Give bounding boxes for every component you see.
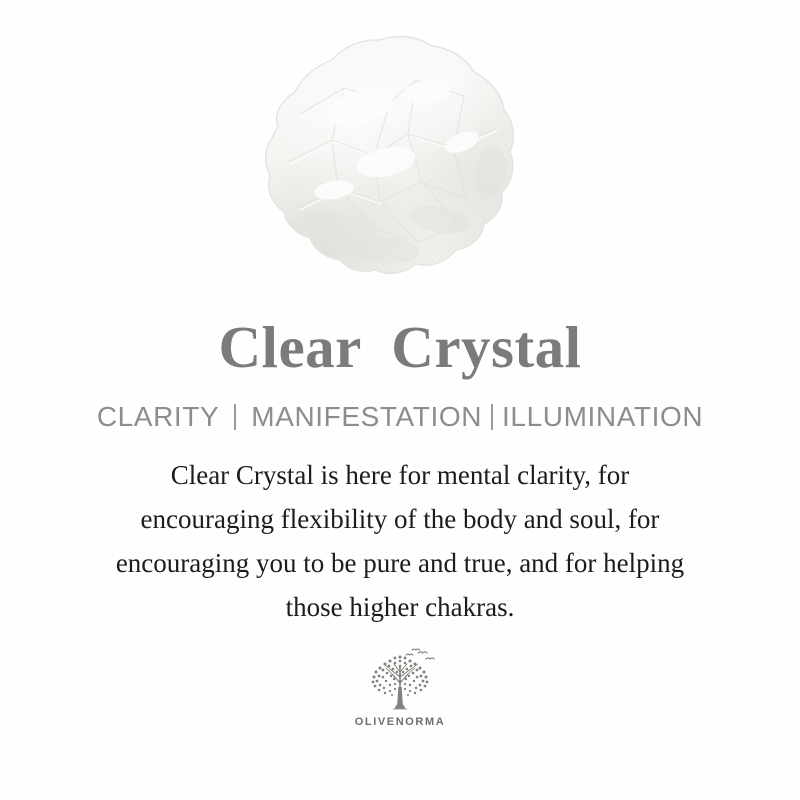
product-title: Clear Crystal bbox=[218, 318, 581, 377]
description-line: encouraging you to be pure and true, and… bbox=[40, 541, 760, 585]
keyword-separator-1 bbox=[234, 404, 236, 430]
product-image-container bbox=[0, 0, 800, 318]
product-info-card: Clear Crystal CLARITY MANIFESTATION ILLU… bbox=[0, 0, 800, 800]
keyword-manifestation: MANIFESTATION bbox=[251, 403, 482, 431]
keyword-illumination: ILLUMINATION bbox=[502, 403, 703, 431]
clear-quartz-crystal-image bbox=[240, 22, 530, 302]
keyword-separator-2 bbox=[491, 404, 493, 430]
description-line: Clear Crystal is here for mental clarity… bbox=[40, 453, 760, 497]
product-description: Clear Crystal is here for mental clarity… bbox=[40, 453, 760, 629]
olive-tree-with-birds-icon bbox=[362, 647, 438, 715]
keyword-clarity: CLARITY bbox=[97, 403, 219, 431]
product-keywords: CLARITY MANIFESTATION ILLUMINATION bbox=[97, 403, 703, 431]
description-line: those higher chakras. bbox=[40, 585, 760, 629]
brand-name: OLIVENORMA bbox=[355, 717, 446, 728]
brand-logo: OLIVENORMA bbox=[355, 647, 446, 728]
description-line: encouraging flexibility of the body and … bbox=[40, 497, 760, 541]
